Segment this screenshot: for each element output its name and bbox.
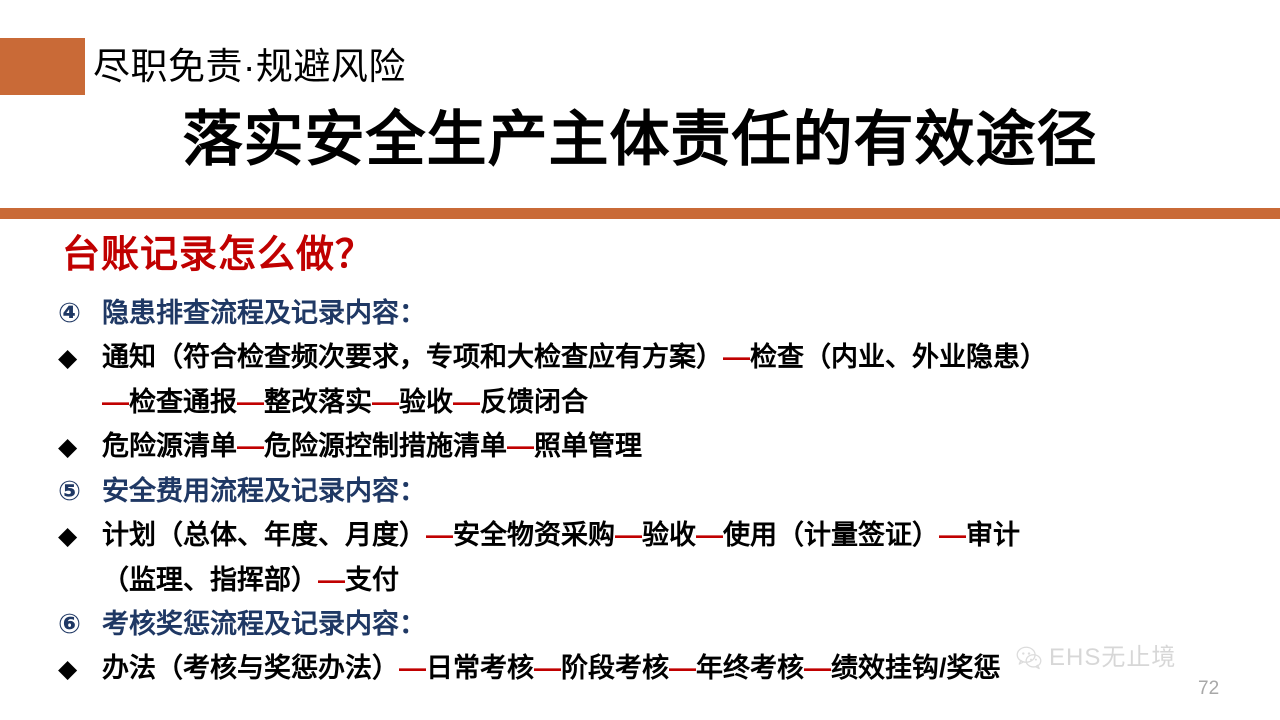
flow-arrow-dash: — xyxy=(723,342,750,372)
list-number: ⑥ xyxy=(58,602,102,646)
diamond-bullet-icon: ◆ xyxy=(58,514,102,558)
section-question: 台账记录怎么做？ xyxy=(62,230,374,280)
flow-arrow-dash: — xyxy=(534,653,561,683)
flow-arrow-dash: — xyxy=(669,653,696,683)
diamond-bullet-icon: ◆ xyxy=(58,647,102,691)
flow-arrow-dash: — xyxy=(399,653,426,683)
list-item-text: （监理、指挥部） xyxy=(102,565,318,595)
list-item-continuation: （监理、指挥部）—支付 xyxy=(58,558,1273,602)
flow-arrow-dash: — xyxy=(237,431,264,461)
list-item: ◆计划（总体、年度、月度）—安全物资采购—验收—使用（计量签证）—审计 xyxy=(58,513,1273,558)
flow-arrow-dash: — xyxy=(939,520,966,550)
list-item-text: 年终考核 xyxy=(696,653,804,683)
list-item-text: 验收 xyxy=(642,520,696,550)
list-item-text: 通知（符合检查频次要求，专项和大检查应有方案） xyxy=(102,342,723,372)
list-item: ◆危险源清单—危险源控制措施清单—照单管理 xyxy=(58,424,1273,469)
header-accent-square xyxy=(0,38,85,95)
list-heading-label: 隐患排查流程及记录内容： xyxy=(102,298,426,328)
list-item-text: 计划（总体、年度、月度） xyxy=(102,520,426,550)
flow-arrow-dash: — xyxy=(372,387,399,417)
list-number: ④ xyxy=(58,291,102,335)
list-item-text: 危险源控制措施清单 xyxy=(264,431,507,461)
flow-arrow-dash: — xyxy=(696,520,723,550)
list-item-text: 日常考核 xyxy=(426,653,534,683)
list-item-text: 危险源清单 xyxy=(102,431,237,461)
page-title: 落实安全生产主体责任的有效途径 xyxy=(0,103,1280,177)
list-item-text: 反馈闭合 xyxy=(480,387,588,417)
list-item-text: 绩效挂钩/奖惩 xyxy=(831,653,1001,683)
header-subtitle: 尽职免责·规避风险 xyxy=(93,38,406,95)
diamond-bullet-icon: ◆ xyxy=(58,425,102,469)
flow-arrow-dash: — xyxy=(318,565,345,595)
flow-arrow-dash: — xyxy=(507,431,534,461)
list-item-text: 验收 xyxy=(399,387,453,417)
list-heading-label: 考核奖惩流程及记录内容： xyxy=(102,609,426,639)
list-item-text: 审计 xyxy=(966,520,1020,550)
flow-arrow-dash: — xyxy=(453,387,480,417)
list-heading: ⑥考核奖惩流程及记录内容： xyxy=(58,602,1273,646)
flow-arrow-dash: — xyxy=(615,520,642,550)
list-item-text: 使用（计量签证） xyxy=(723,520,939,550)
flow-arrow-dash: — xyxy=(237,387,264,417)
list-item-text: 检查通报 xyxy=(129,387,237,417)
list-item: ◆通知（符合检查频次要求，专项和大检查应有方案）—检查（内业、外业隐患） xyxy=(58,335,1273,380)
flow-arrow-dash: — xyxy=(426,520,453,550)
list-item-text: 整改落实 xyxy=(264,387,372,417)
flow-arrow-dash: — xyxy=(102,387,129,417)
list-heading: ⑤安全费用流程及记录内容： xyxy=(58,469,1273,513)
list-item-text: 阶段考核 xyxy=(561,653,669,683)
flow-arrow-dash: — xyxy=(804,653,831,683)
list-item-text: 照单管理 xyxy=(534,431,642,461)
page-number: 72 xyxy=(1198,678,1219,700)
list-item-text: 支付 xyxy=(345,565,399,595)
list-item: ◆办法（考核与奖惩办法）—日常考核—阶段考核—年终考核—绩效挂钩/奖惩 xyxy=(58,646,1273,691)
list-item-continuation: —检查通报—整改落实—验收—反馈闭合 xyxy=(58,380,1273,424)
content-list: ④隐患排查流程及记录内容：◆通知（符合检查频次要求，专项和大检查应有方案）—检查… xyxy=(58,291,1273,691)
list-heading-label: 安全费用流程及记录内容： xyxy=(102,476,426,506)
diamond-bullet-icon: ◆ xyxy=(58,336,102,380)
list-heading: ④隐患排查流程及记录内容： xyxy=(58,291,1273,335)
list-item-text: 办法（考核与奖惩办法） xyxy=(102,653,399,683)
list-item-text: 检查（内业、外业隐患） xyxy=(750,342,1047,372)
list-number: ⑤ xyxy=(58,469,102,513)
header-divider xyxy=(0,208,1280,219)
list-item-text: 安全物资采购 xyxy=(453,520,615,550)
